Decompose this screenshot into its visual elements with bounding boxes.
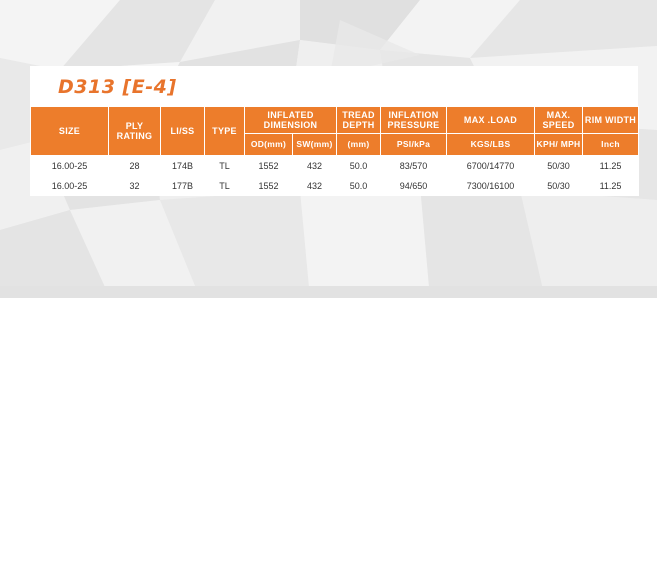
unit-header-sw-mm: SW(mm) — [293, 134, 337, 156]
cell-type: TL — [205, 176, 245, 196]
cell-sw-mm: 432 — [293, 176, 337, 196]
col-header-max-load: MAX .LOAD — [447, 107, 535, 134]
table-header: SIZE PLY RATING LI/SS TYPE INFLATED DIME… — [31, 107, 639, 156]
col-header-inflation-pressure: INFLATION PRESSURE — [381, 107, 447, 134]
unit-header-inch: Inch — [583, 134, 639, 156]
cell-inflation-pressure: 83/570 — [381, 156, 447, 176]
cell-li-ss: 174B — [161, 156, 205, 176]
col-header-tread-depth: TREAD DEPTH — [337, 107, 381, 134]
col-header-li-ss: LI/SS — [161, 107, 205, 156]
table-row: 16.00-25 28 174B TL 1552 432 50.0 83/570… — [31, 156, 639, 176]
cell-ply-rating: 32 — [109, 176, 161, 196]
col-header-ply-rating: PLY RATING — [109, 107, 161, 156]
cell-inflation-pressure: 94/650 — [381, 176, 447, 196]
cell-size: 16.00-25 — [31, 176, 109, 196]
cell-od-mm: 1552 — [245, 176, 293, 196]
cell-max-speed: 50/30 — [535, 176, 583, 196]
spec-card: D313 [E-4] SIZE PLY RATING LI/SS — [30, 66, 638, 196]
cell-od-mm: 1552 — [245, 156, 293, 176]
unit-header-kph-mph: KPH/ MPH — [535, 134, 583, 156]
cell-size: 16.00-25 — [31, 156, 109, 176]
cell-ply-rating: 28 — [109, 156, 161, 176]
page-title: D313 [E-4] — [30, 66, 638, 106]
cell-max-speed: 50/30 — [535, 156, 583, 176]
table-body: 16.00-25 28 174B TL 1552 432 50.0 83/570… — [31, 156, 639, 196]
page-root: D313 [E-4] SIZE PLY RATING LI/SS — [0, 0, 657, 573]
col-header-rim-width: RIM WIDTH — [583, 107, 639, 134]
col-header-inflated-dimension: INFLATED DIMENSION — [245, 107, 337, 134]
cell-rim-width: 11.25 — [583, 156, 639, 176]
col-header-type: TYPE — [205, 107, 245, 156]
table-row: 16.00-25 32 177B TL 1552 432 50.0 94/650… — [31, 176, 639, 196]
unit-header-tread-depth-mm: (mm) — [337, 134, 381, 156]
cell-max-load: 6700/14770 — [447, 156, 535, 176]
table-header-row-groups: SIZE PLY RATING LI/SS TYPE INFLATED DIME… — [31, 107, 639, 134]
unit-header-psi-kpa: PSI/kPa — [381, 134, 447, 156]
cell-sw-mm: 432 — [293, 156, 337, 176]
cell-tread-depth: 50.0 — [337, 156, 381, 176]
cell-li-ss: 177B — [161, 176, 205, 196]
unit-header-od-mm: OD(mm) — [245, 134, 293, 156]
col-header-size: SIZE — [31, 107, 109, 156]
cell-rim-width: 11.25 — [583, 176, 639, 196]
cell-tread-depth: 50.0 — [337, 176, 381, 196]
unit-header-kgs-lbs: KGS/LBS — [447, 134, 535, 156]
cell-max-load: 7300/16100 — [447, 176, 535, 196]
tire-spec-table: SIZE PLY RATING LI/SS TYPE INFLATED DIME… — [30, 106, 639, 196]
col-header-max-speed: MAX. SPEED — [535, 107, 583, 134]
cell-type: TL — [205, 156, 245, 176]
